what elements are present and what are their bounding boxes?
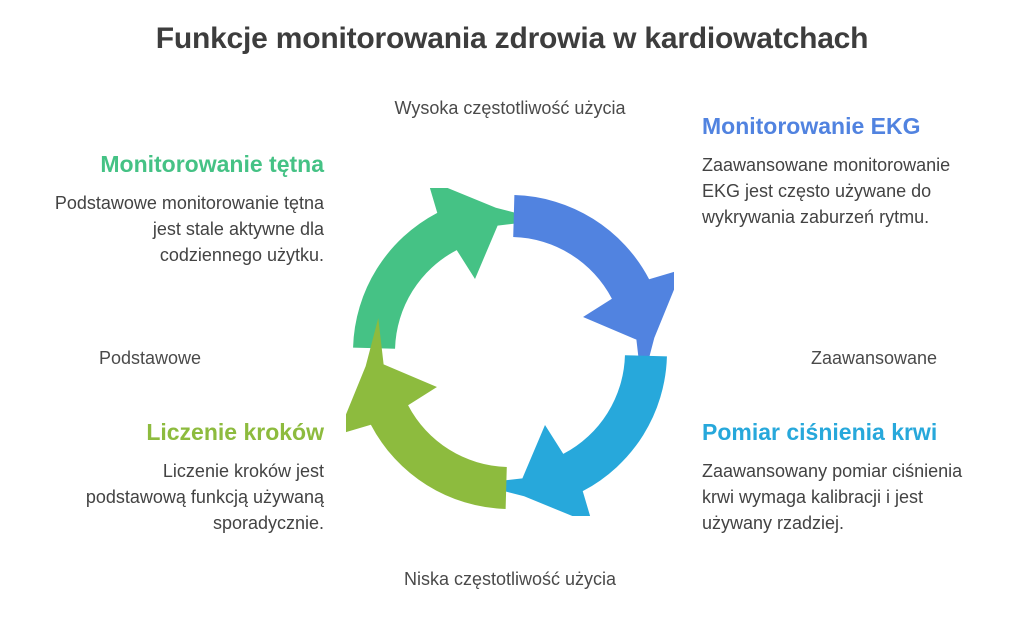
quadrant-ecg: Monitorowanie EKG Zaawansowane monitorow… bbox=[702, 112, 1014, 230]
quadrant-heart-rate: Monitorowanie tętna Podstawowe monitorow… bbox=[12, 150, 324, 268]
axis-label-top: Wysoka częstotliwość użycia bbox=[362, 95, 658, 121]
quadrant-blood-pressure: Pomiar ciśnienia krwi Zaawansowany pomia… bbox=[702, 418, 1014, 536]
quadrant-blood-pressure-heading: Pomiar ciśnienia krwi bbox=[702, 418, 1014, 447]
cycle-diagram bbox=[346, 188, 674, 516]
axis-label-right: Zaawansowane bbox=[744, 345, 1004, 371]
page-title: Funkcje monitorowania zdrowia w kardiowa… bbox=[0, 22, 1024, 56]
axis-label-left: Podstawowe bbox=[20, 345, 280, 371]
quadrant-blood-pressure-body: Zaawansowany pomiar ciśnienia krwi wymag… bbox=[702, 459, 1014, 536]
axis-label-bottom: Niska częstotliwość użycia bbox=[362, 566, 658, 592]
quadrant-steps-body: Liczenie kroków jest podstawową funkcją … bbox=[12, 459, 324, 536]
quadrant-steps: Liczenie kroków Liczenie kroków jest pod… bbox=[12, 418, 324, 536]
quadrant-ecg-heading: Monitorowanie EKG bbox=[702, 112, 1014, 141]
quadrant-heart-rate-heading: Monitorowanie tętna bbox=[12, 150, 324, 179]
quadrant-ecg-body: Zaawansowane monitorowanie EKG jest częs… bbox=[702, 153, 1014, 230]
quadrant-heart-rate-body: Podstawowe monitorowanie tętna jest stal… bbox=[12, 191, 324, 268]
quadrant-steps-heading: Liczenie kroków bbox=[12, 418, 324, 447]
